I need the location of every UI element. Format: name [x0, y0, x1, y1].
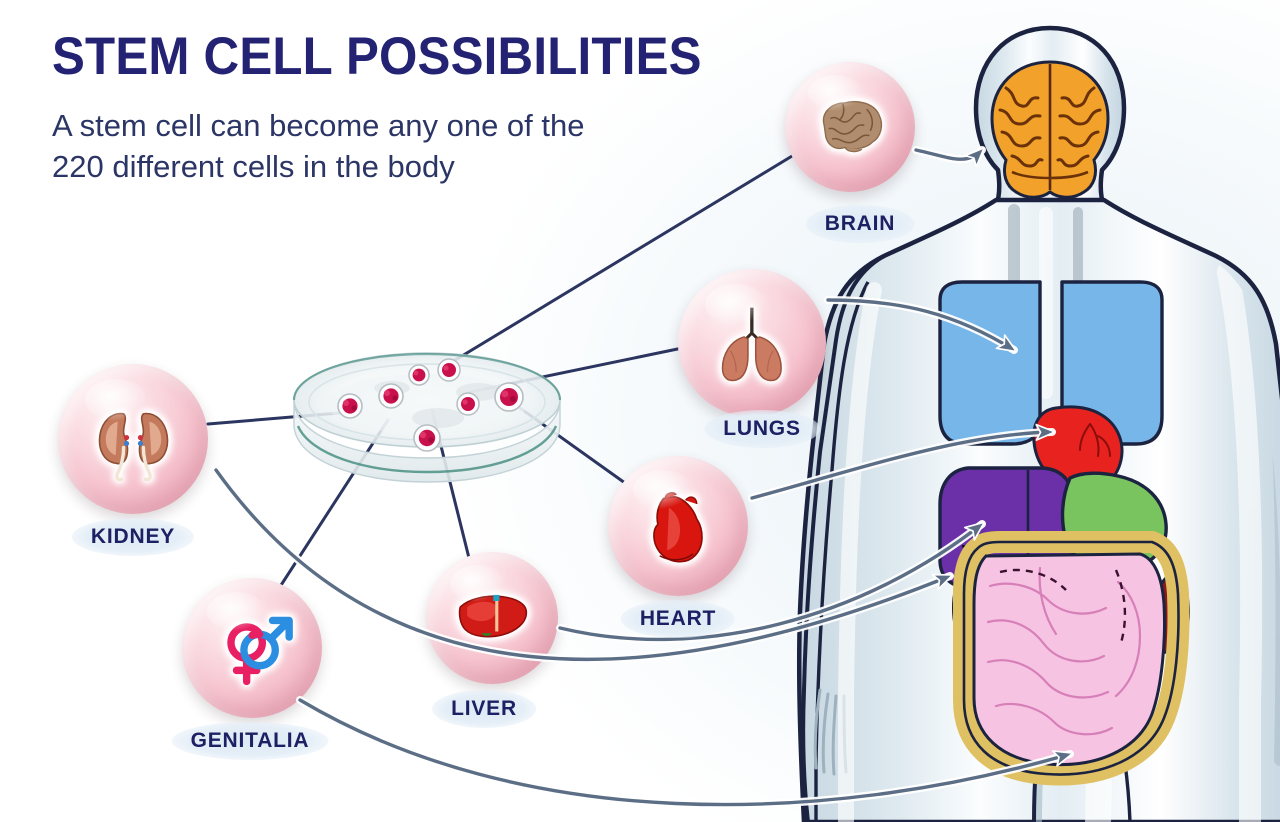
label-liver: LIVER	[432, 690, 536, 728]
organ-arrows	[0, 0, 1280, 822]
label-brain: BRAIN	[806, 205, 915, 243]
label-lungs: LUNGS	[704, 410, 820, 448]
label-kidney: KIDNEY	[72, 518, 194, 556]
label-heart: HEART	[621, 600, 735, 638]
label-genitalia: GENITALIA	[172, 722, 329, 760]
infographic-canvas: STEM CELL POSSIBILITIES A stem cell can …	[0, 0, 1280, 822]
